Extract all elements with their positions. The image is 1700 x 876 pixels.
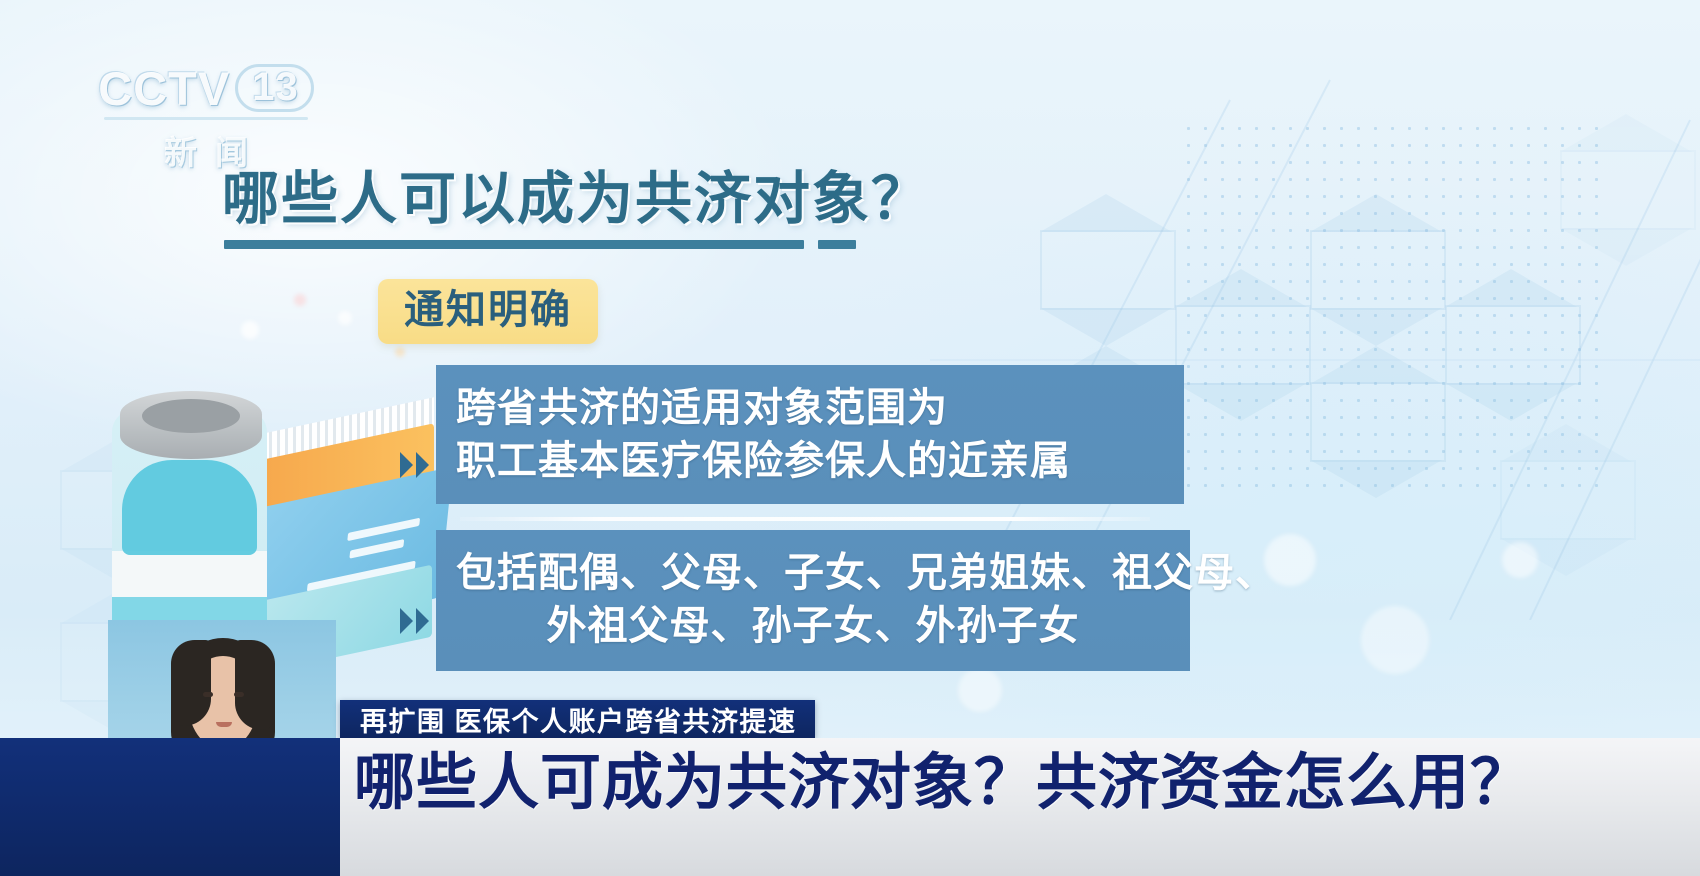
cctv-wordmark: CCTV 13 [96,64,316,112]
slide-title: 哪些人可以成为共济对象？ [222,170,930,230]
double-chevron-icon-2 [400,608,429,634]
vial-cap-top [142,399,240,433]
title-underline-long [224,240,804,249]
title-underline-short [818,240,856,249]
headline-text: 哪些人可成为共济对象？共济资金怎么用？ [354,748,1532,816]
logo-divider [104,117,308,120]
anchor-eye-right [234,692,244,697]
panel-1-line-2: 职工基本医疗保险参保人的近亲属 [456,435,1164,488]
vial-liquid-upper [122,460,257,555]
cctv-letters: CCTV [98,65,230,112]
anchor-eye-left [203,692,213,697]
chyron-bar: 再扩围 医保个人账户跨省共济提速 [340,700,815,738]
anchor-mouth [216,722,232,727]
panel-2-line-1: 包括配偶、父母、子女、兄弟姐妹、祖父母、 [456,547,1170,600]
content-panel-2: 包括配偶、父母、子女、兄弟姐妹、祖父母、 外祖父母、孙子女、外孙子女 [436,530,1190,671]
broadcast-screen: CCTV 13 新闻 哪些人可以成为共济对象？ 通知明确 [0,0,1700,876]
notice-tag-label: 通知明确 [404,288,572,332]
anchor-hair-right [235,640,275,730]
title-underline [224,240,930,249]
double-chevron-icon-1 [400,452,429,478]
cctv13-logo: CCTV 13 新闻 [96,64,316,174]
panel-2-line-2: 外祖父母、孙子女、外孙子女 [456,600,1170,653]
cctv-channel-number: 13 [235,64,314,112]
content-panel-1: 跨省共济的适用对象范围为 职工基本医疗保险参保人的近亲属 [436,365,1184,504]
notice-tag: 通知明确 [378,279,598,344]
chyron-text: 再扩围 医保个人账户跨省共济提速 [360,700,797,739]
vial-label-band [112,551,267,597]
vaccine-vial-illustration [100,355,430,665]
slide-title-block: 哪些人可以成为共济对象？ [222,170,930,249]
headline-bar-accent [0,738,340,876]
anchor-hair-left [171,640,211,726]
panel-divider [460,517,1150,521]
panel-1-line-1: 跨省共济的适用对象范围为 [456,382,1164,435]
